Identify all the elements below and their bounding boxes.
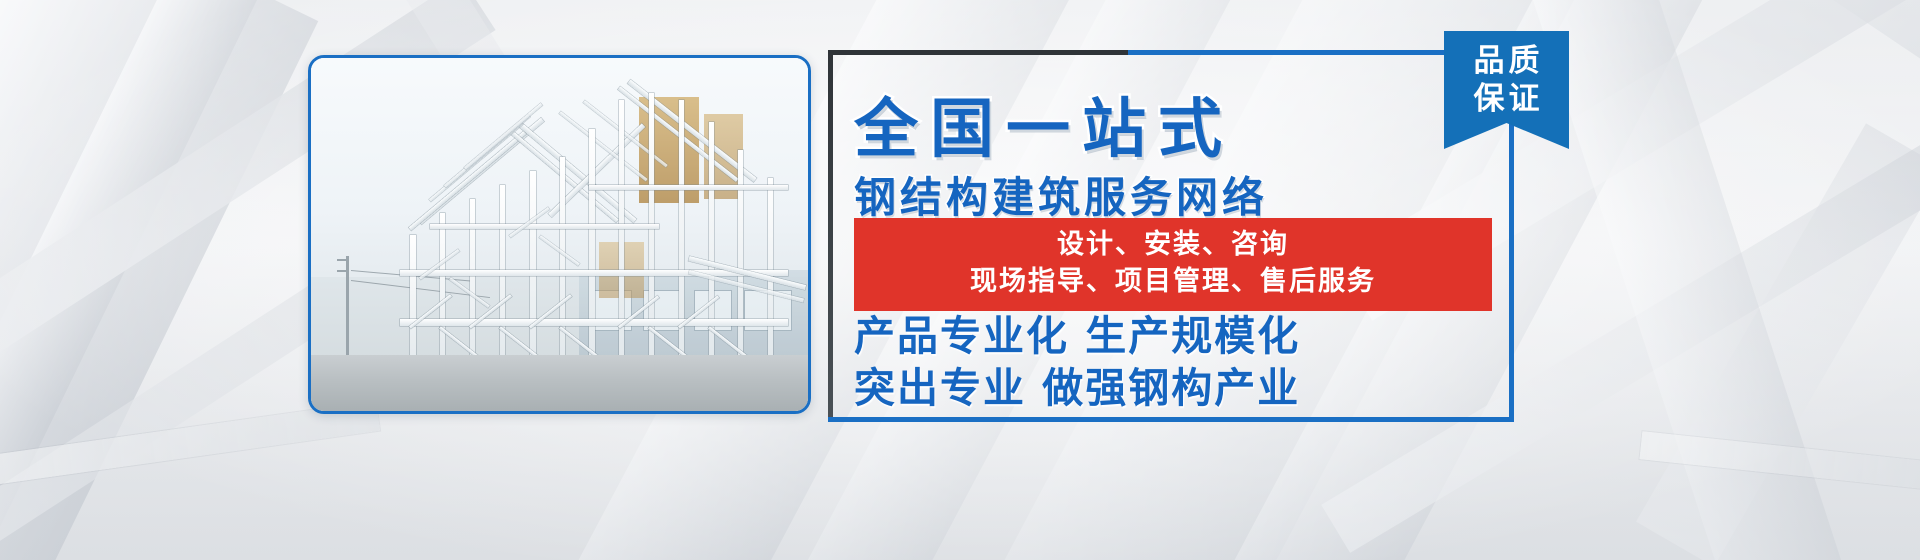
frame-top-dark	[828, 50, 1128, 55]
tagline-1: 产品专业化 生产规模化	[854, 302, 1300, 362]
badge-line-2: 保证	[1470, 81, 1544, 119]
services-callout: 设计、安装、咨询 现场指导、项目管理、售后服务	[854, 218, 1492, 311]
badge-line-1: 品质	[1470, 43, 1544, 81]
promo-banner: 全国一站式 钢结构建筑服务网络 设计、安装、咨询 现场指导、项目管理、售后服务 …	[0, 0, 1920, 560]
frame-bottom	[828, 417, 1514, 422]
subheadline: 钢结构建筑服务网络	[854, 164, 1268, 225]
project-photo-frame[interactable]	[308, 55, 811, 414]
headline: 全国一站式	[854, 78, 1234, 170]
frame-left	[828, 50, 833, 422]
tagline-2: 突出专业 做强钢构产业	[854, 354, 1300, 414]
services-line-1: 设计、安装、咨询	[854, 226, 1492, 263]
services-line-2: 现场指导、项目管理、售后服务	[854, 263, 1492, 300]
steel-structure-photo	[311, 58, 808, 411]
text-panel: 全国一站式 钢结构建筑服务网络 设计、安装、咨询 现场指导、项目管理、售后服务 …	[828, 50, 1514, 422]
